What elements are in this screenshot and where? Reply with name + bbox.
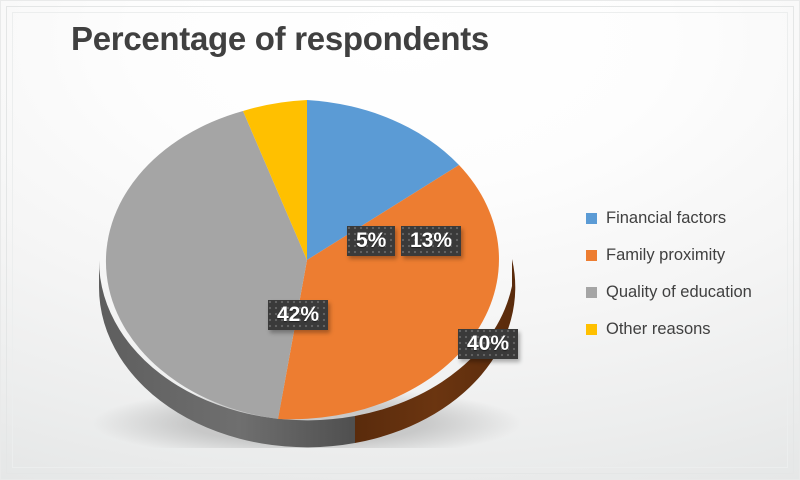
data-label-family-proximity: 40% (458, 329, 518, 359)
chart-legend: Financial factors Family proximity Quali… (586, 200, 791, 348)
legend-swatch-icon (586, 250, 597, 261)
legend-label: Quality of education (606, 283, 752, 302)
legend-swatch-icon (586, 287, 597, 298)
legend-label: Family proximity (606, 246, 725, 265)
data-label-other-reasons: 5% (347, 226, 395, 256)
legend-item-quality-of-education[interactable]: Quality of education (586, 274, 791, 311)
pie-chart-graphic: 5% 13% 42% 40% (92, 78, 522, 448)
legend-item-other-reasons[interactable]: Other reasons (586, 311, 791, 348)
pie-svg (92, 78, 522, 448)
data-label-quality-of-education: 42% (268, 300, 328, 330)
legend-swatch-icon (586, 324, 597, 335)
legend-swatch-icon (586, 213, 597, 224)
data-label-financial-factors: 13% (401, 226, 461, 256)
chart-title: Percentage of respondents (0, 20, 560, 58)
legend-label: Other reasons (606, 320, 711, 339)
legend-item-financial-factors[interactable]: Financial factors (586, 200, 791, 237)
legend-item-family-proximity[interactable]: Family proximity (586, 237, 791, 274)
chart-canvas: Percentage of respondents (0, 0, 800, 480)
legend-label: Financial factors (606, 209, 726, 228)
